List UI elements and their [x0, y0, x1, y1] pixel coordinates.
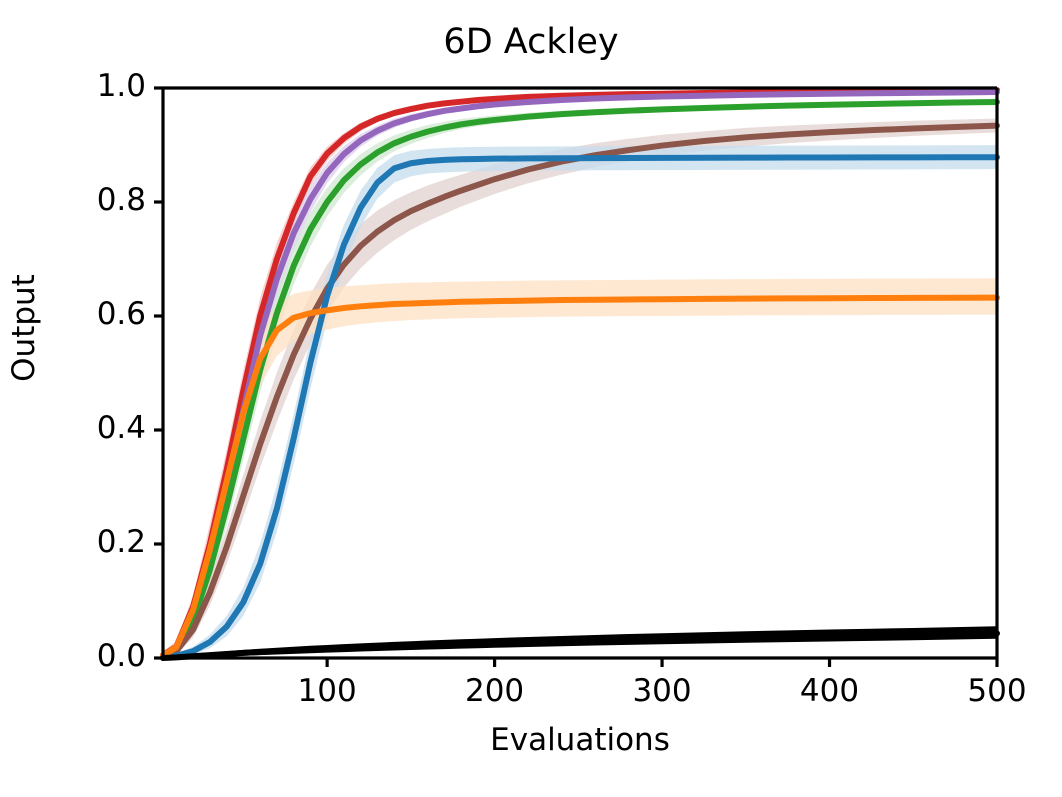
y-tick-label: 0.8 — [36, 182, 146, 218]
series-lines-group — [163, 90, 997, 658]
y-tick-label: 1.0 — [36, 68, 146, 104]
x-tick-label: 200 — [435, 673, 555, 709]
x-tick-label: 300 — [602, 673, 722, 709]
chart-figure: 6D Ackley Output Evaluations 0.00.20.40.… — [0, 0, 1062, 797]
y-tick-label: 0.6 — [36, 296, 146, 332]
y-tick-label: 0.2 — [36, 524, 146, 560]
x-tick-label: 400 — [770, 673, 890, 709]
x-tick-label: 500 — [937, 673, 1057, 709]
confidence-band-brown — [163, 119, 997, 659]
x-tick-label: 100 — [267, 673, 387, 709]
y-tick-label: 0.0 — [36, 638, 146, 674]
y-tick-label: 0.4 — [36, 410, 146, 446]
